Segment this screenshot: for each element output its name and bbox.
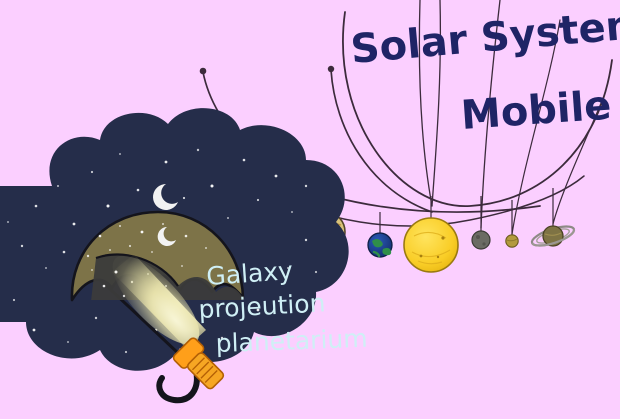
solar-system-mobile-illustration: Galaxy projeution planetarium Solar Syst… <box>0 0 620 419</box>
planet-sun <box>404 218 458 272</box>
planet-earth <box>368 233 392 257</box>
illustration-canvas: Galaxy projeution planetarium Solar Syst… <box>0 0 620 419</box>
wire-tip-bead-left <box>200 68 207 75</box>
caption-line-3: planetarium <box>215 324 368 358</box>
planet-mercury <box>472 231 490 249</box>
planet-venus <box>506 235 518 247</box>
wire-tip-bead-center <box>328 66 334 72</box>
caption-line-1: Galaxy <box>205 256 294 291</box>
